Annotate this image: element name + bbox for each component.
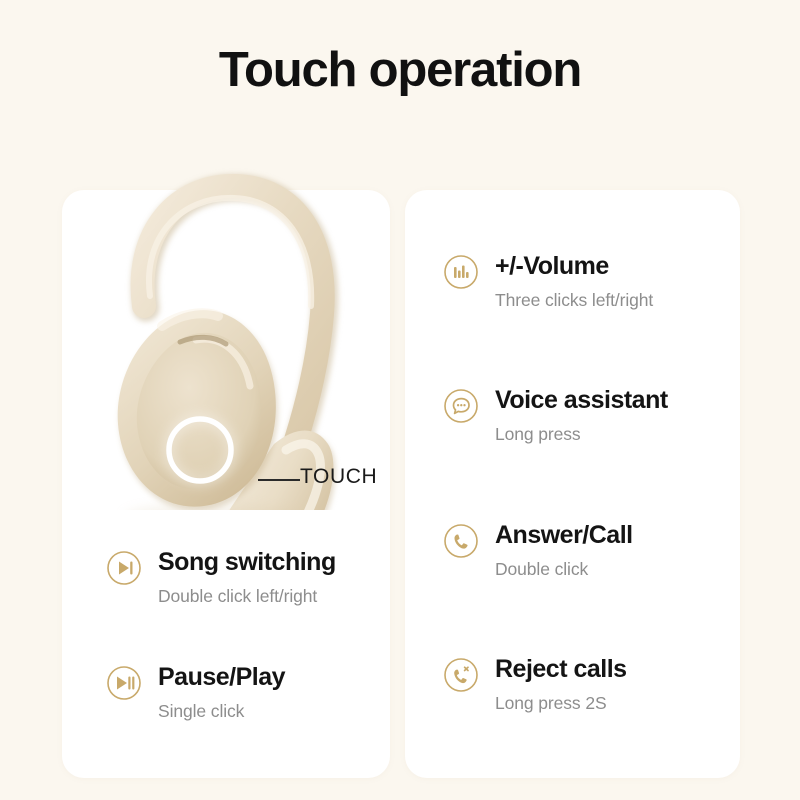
feature-subtitle: Single click [158, 701, 285, 722]
right-feature-card: +/-Volume Three clicks left/right Voice … [405, 190, 740, 778]
feature-subtitle: Double click [495, 559, 633, 580]
feature-subtitle: Long press 2S [495, 693, 627, 714]
feature-subtitle: Double click left/right [158, 586, 336, 607]
feature-pause-play[interactable]: Pause/Play Single click [106, 663, 285, 722]
phone-handset-icon [443, 523, 479, 559]
product-illustration [62, 130, 390, 510]
feature-song-switching[interactable]: Song switching Double click left/right [106, 548, 336, 607]
page-title: Touch operation [0, 44, 800, 98]
feature-title: Answer/Call [495, 521, 633, 549]
feature-volume[interactable]: +/-Volume Three clicks left/right [443, 252, 653, 311]
speech-bubble-icon [443, 388, 479, 424]
feature-reject-calls[interactable]: Reject calls Long press 2S [443, 655, 627, 714]
feature-voice-assistant[interactable]: Voice assistant Long press [443, 386, 668, 445]
phone-reject-icon [443, 657, 479, 693]
feature-title: Pause/Play [158, 663, 285, 691]
next-track-icon [106, 550, 142, 586]
feature-answer-call[interactable]: Answer/Call Double click [443, 521, 633, 580]
feature-title: +/-Volume [495, 252, 609, 280]
touch-callout-label: TOUCH [300, 465, 377, 489]
touch-callout-leader-line [258, 479, 300, 481]
feature-title: Reject calls [495, 655, 627, 683]
feature-title: Voice assistant [495, 386, 668, 414]
left-feature-card: TOUCH Song switching Double click left/r… [62, 190, 390, 778]
volume-bars-icon [443, 254, 479, 290]
feature-title: Song switching [158, 548, 336, 576]
feature-subtitle: Long press [495, 424, 668, 445]
play-pause-icon [106, 665, 142, 701]
feature-subtitle: Three clicks left/right [495, 290, 653, 311]
